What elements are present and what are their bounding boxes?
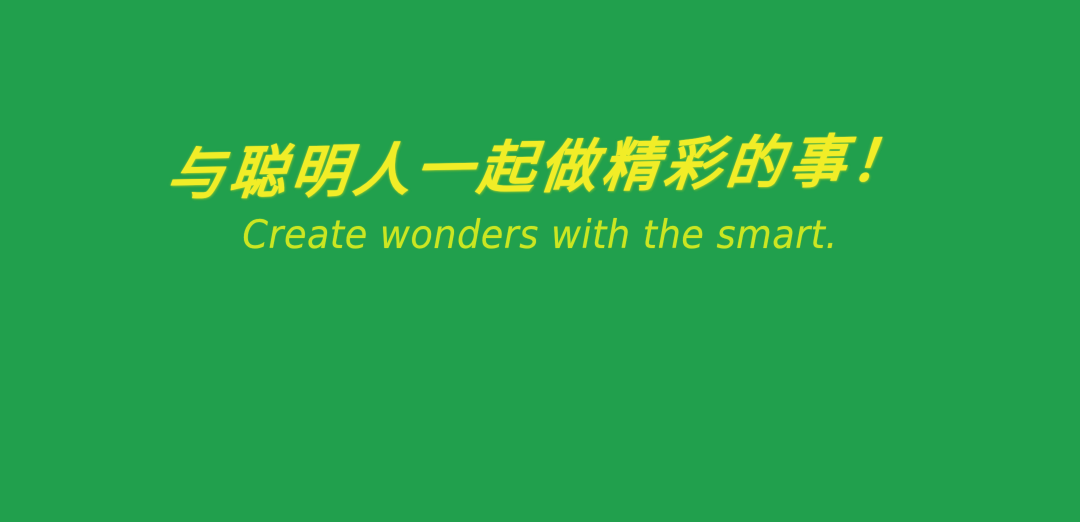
headline-chinese: 与聪明人一起做精彩的事！ bbox=[0, 122, 1080, 215]
slogan-banner: 与聪明人一起做精彩的事！ Create wonders with the sma… bbox=[0, 0, 1080, 522]
slogan-text-block: 与聪明人一起做精彩的事！ Create wonders with the sma… bbox=[0, 132, 1080, 260]
subtitle-english: Create wonders with the smart. bbox=[32, 212, 1047, 260]
